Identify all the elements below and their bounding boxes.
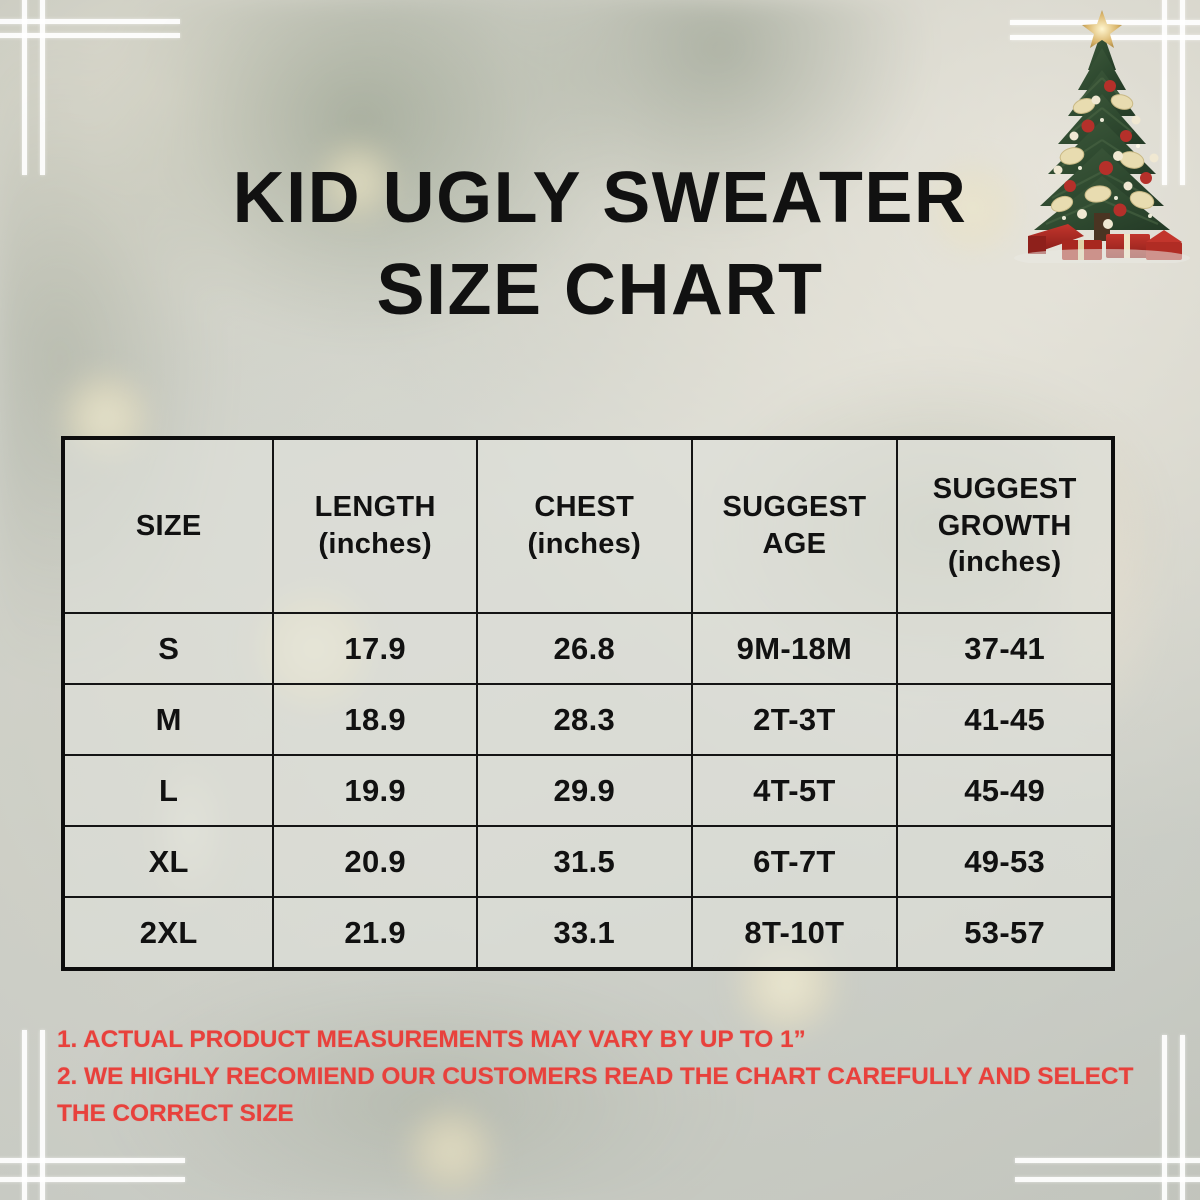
- header-cell-chest: CHEST (inches): [477, 439, 692, 613]
- header-length-sub: (inches): [275, 526, 475, 563]
- table-header-row: SIZE LENGTH (inches) CHEST (inches) SUGG…: [64, 439, 1112, 613]
- footnote-2: 2. WE HIGHLY RECOMIEND OUR CUSTOMERS REA…: [57, 1058, 1147, 1132]
- header-growth-main: SUGGEST: [933, 473, 1077, 505]
- header-chest-main: CHEST: [534, 491, 634, 523]
- corner-line-top-left-v2: [40, 0, 45, 175]
- page-title: KID UGLY SWEATER SIZE CHART: [0, 152, 1200, 336]
- cell-chest: 29.9: [477, 755, 692, 826]
- cell-age: 8T-10T: [692, 897, 898, 968]
- corner-line-bottom-left-v2: [40, 1030, 45, 1200]
- cell-length: 17.9: [273, 613, 477, 684]
- cell-growth: 53-57: [897, 897, 1112, 968]
- cell-length: 20.9: [273, 826, 477, 897]
- footnote-1: 1. ACTUAL PRODUCT MEASUREMENTS MAY VARY …: [57, 1021, 1147, 1058]
- table-row: 2XL 21.9 33.1 8T-10T 53-57: [64, 897, 1112, 968]
- cell-age: 6T-7T: [692, 826, 898, 897]
- cell-age: 9M-18M: [692, 613, 898, 684]
- cell-size: 2XL: [64, 897, 273, 968]
- cell-growth: 49-53: [897, 826, 1112, 897]
- table-row: L 19.9 29.9 4T-5T 45-49: [64, 755, 1112, 826]
- corner-line-bottom-right-v1: [1162, 1035, 1167, 1200]
- cell-chest: 26.8: [477, 613, 692, 684]
- cell-chest: 33.1: [477, 897, 692, 968]
- corner-line-top-left-v1: [22, 0, 27, 175]
- header-growth-sub2: (inches): [899, 544, 1110, 581]
- corner-line-bottom-right-h1: [1015, 1158, 1200, 1163]
- corner-line-bottom-left-h2: [0, 1177, 185, 1182]
- table-row: M 18.9 28.3 2T-3T 41-45: [64, 684, 1112, 755]
- corner-line-bottom-left-h1: [0, 1158, 185, 1163]
- corner-line-bottom-right-v2: [1180, 1035, 1185, 1200]
- table-row: XL 20.9 31.5 6T-7T 49-53: [64, 826, 1112, 897]
- header-cell-size: SIZE: [64, 439, 273, 613]
- header-age-main: SUGGEST: [722, 491, 866, 523]
- title-line-2: SIZE CHART: [0, 244, 1200, 336]
- cell-length: 21.9: [273, 897, 477, 968]
- cell-length: 19.9: [273, 755, 477, 826]
- cell-chest: 31.5: [477, 826, 692, 897]
- table-row: S 17.9 26.8 9M-18M 37-41: [64, 613, 1112, 684]
- header-age-sub: AGE: [694, 526, 896, 563]
- size-chart-table: SIZE LENGTH (inches) CHEST (inches) SUGG…: [63, 438, 1113, 969]
- header-cell-length: LENGTH (inches): [273, 439, 477, 613]
- footnotes: 1. ACTUAL PRODUCT MEASUREMENTS MAY VARY …: [57, 1021, 1147, 1133]
- cell-growth: 41-45: [897, 684, 1112, 755]
- corner-line-bottom-left-v1: [22, 1030, 27, 1200]
- header-cell-suggest-age: SUGGEST AGE: [692, 439, 898, 613]
- cell-length: 18.9: [273, 684, 477, 755]
- header-chest-sub: (inches): [479, 526, 690, 563]
- corner-line-bottom-right-h2: [1015, 1177, 1200, 1182]
- cell-age: 2T-3T: [692, 684, 898, 755]
- corner-line-top-left-h2: [0, 33, 180, 38]
- title-line-1: KID UGLY SWEATER: [0, 152, 1200, 244]
- cell-age: 4T-5T: [692, 755, 898, 826]
- cell-size: S: [64, 613, 273, 684]
- header-cell-suggest-growth: SUGGEST GROWTH (inches): [897, 439, 1112, 613]
- header-growth-sub: GROWTH: [899, 508, 1110, 545]
- cell-growth: 45-49: [897, 755, 1112, 826]
- cell-chest: 28.3: [477, 684, 692, 755]
- header-size-main: SIZE: [136, 510, 202, 542]
- cell-size: L: [64, 755, 273, 826]
- cell-size: XL: [64, 826, 273, 897]
- size-chart-image: KID UGLY SWEATER SIZE CHART SIZE LENGTH …: [0, 0, 1200, 1200]
- cell-growth: 37-41: [897, 613, 1112, 684]
- corner-line-top-left-h1: [0, 19, 180, 24]
- header-length-main: LENGTH: [315, 491, 436, 523]
- cell-size: M: [64, 684, 273, 755]
